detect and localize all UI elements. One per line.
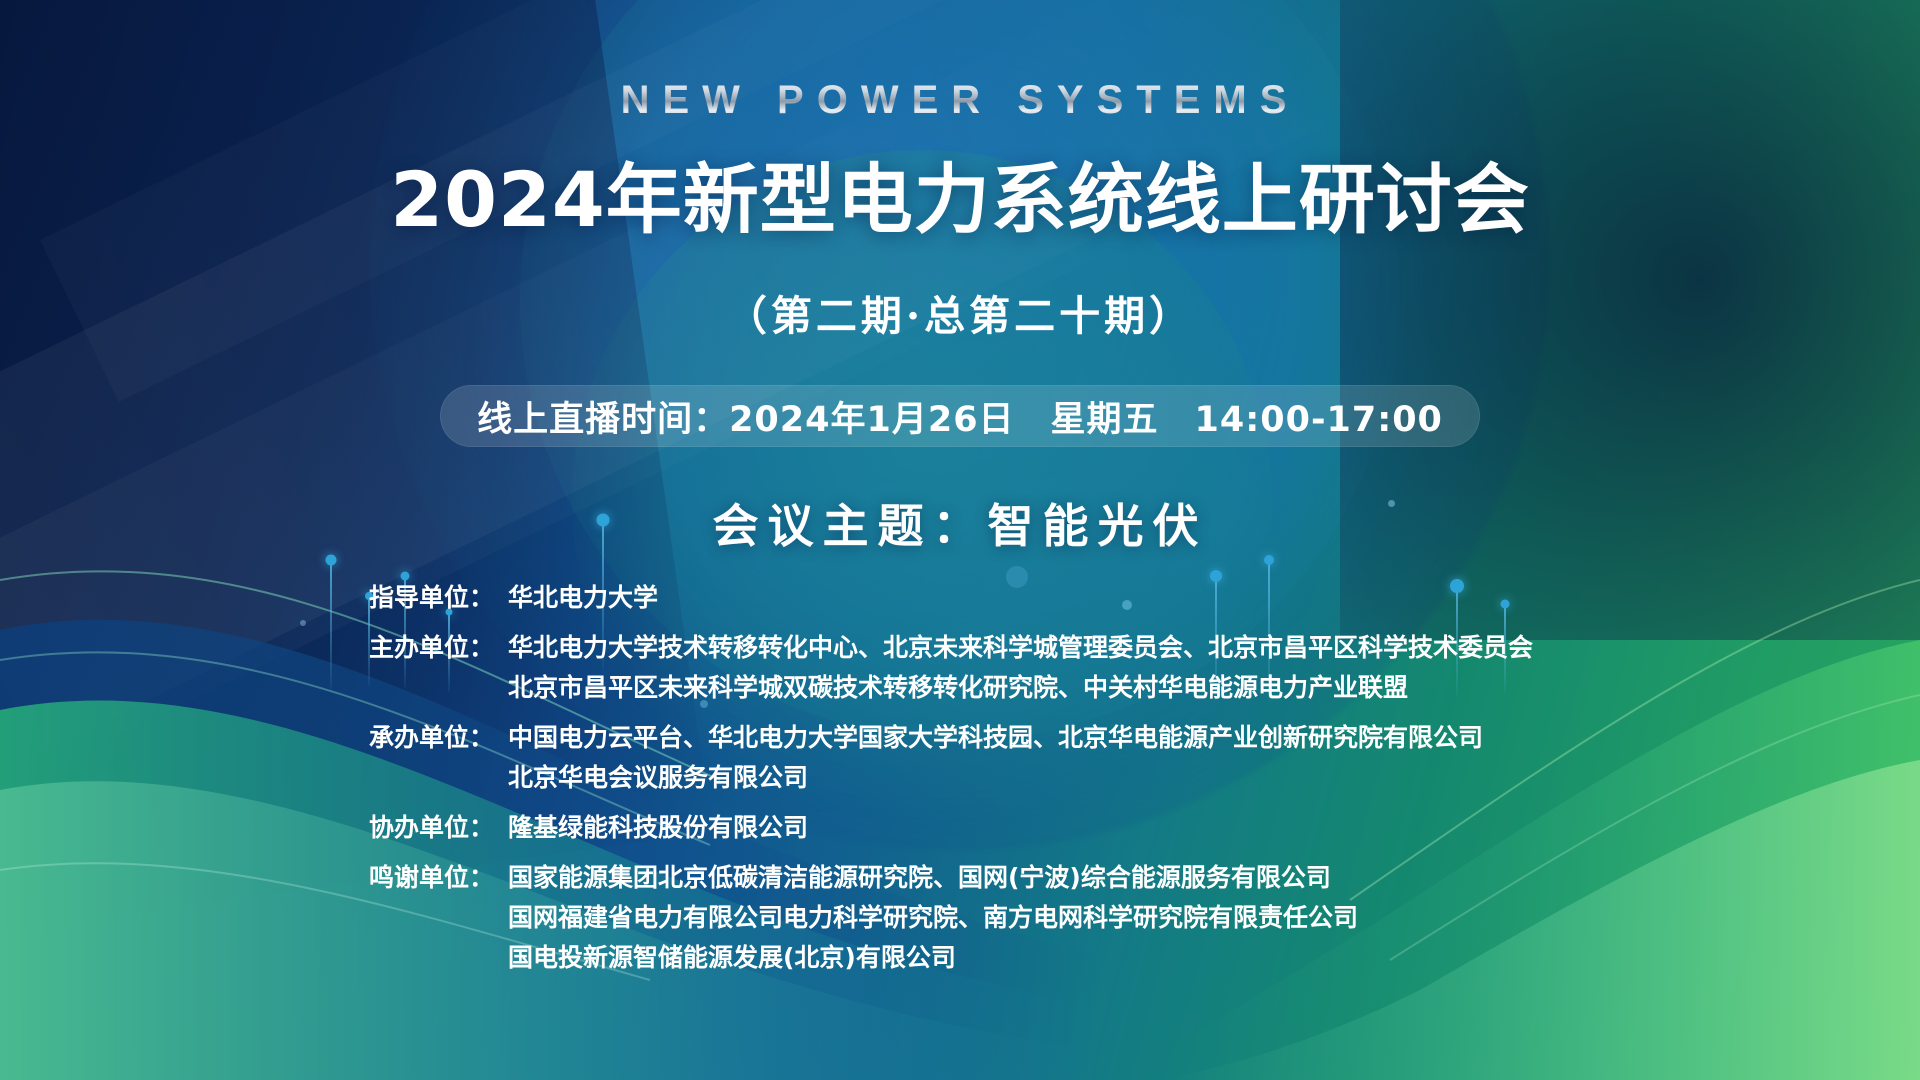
livestream-time-banner: 线上直播时间：2024年1月26日 星期五 14:00-17:00 [440,385,1480,447]
organization-value: 华北电力大学 [508,578,658,618]
organization-values: 国家能源集团北京低碳清洁能源研究院、国网(宁波)综合能源服务有限公司 国网福建省… [494,858,1358,978]
organization-value: 中国电力云平台、华北电力大学国家大学科技园、北京华电能源产业创新研究院有限公司 [508,718,1483,758]
organization-value: 华北电力大学技术转移转化中心、北京未来科学城管理委员会、北京市昌平区科学技术委员… [508,628,1533,668]
livestream-time-text: 线上直播时间：2024年1月26日 星期五 14:00-17:00 [477,391,1443,442]
organization-row: 指导单位： 华北电力大学 [318,578,1638,618]
organization-value: 北京市昌平区未来科学城双碳技术转移转化研究院、中关村华电能源电力产业联盟 [508,668,1533,708]
organization-label: 承办单位： [318,718,494,758]
organization-value: 国电投新源智储能源发展(北京)有限公司 [508,938,1358,978]
organization-row: 鸣谢单位： 国家能源集团北京低碳清洁能源研究院、国网(宁波)综合能源服务有限公司… [318,858,1638,978]
organization-label: 主办单位： [318,628,494,668]
conference-theme: 会议主题：智能光伏 [0,490,1920,556]
poster-content: NEW POWER SYSTEMS 2024年新型电力系统线上研讨会 （第二期·… [0,0,1920,1080]
main-title: 2024年新型电力系统线上研讨会 [0,138,1920,248]
organization-values: 隆基绿能科技股份有限公司 [494,808,808,848]
subtitle-issue: （第二期·总第二十期） [0,282,1920,342]
english-title: NEW POWER SYSTEMS [0,78,1920,123]
organization-row: 承办单位： 中国电力云平台、华北电力大学国家大学科技园、北京华电能源产业创新研究… [318,718,1638,798]
organization-value: 国家能源集团北京低碳清洁能源研究院、国网(宁波)综合能源服务有限公司 [508,858,1358,898]
organization-values: 中国电力云平台、华北电力大学国家大学科技园、北京华电能源产业创新研究院有限公司 … [494,718,1483,798]
organization-value: 北京华电会议服务有限公司 [508,758,1483,798]
organization-row: 主办单位： 华北电力大学技术转移转化中心、北京未来科学城管理委员会、北京市昌平区… [318,628,1638,708]
organization-value: 国网福建省电力有限公司电力科学研究院、南方电网科学研究院有限责任公司 [508,898,1358,938]
organization-label: 鸣谢单位： [318,858,494,898]
organization-label: 协办单位： [318,808,494,848]
organization-values: 华北电力大学技术转移转化中心、北京未来科学城管理委员会、北京市昌平区科学技术委员… [494,628,1533,708]
organization-list: 指导单位： 华北电力大学 主办单位： 华北电力大学技术转移转化中心、北京未来科学… [318,578,1638,988]
organization-value: 隆基绿能科技股份有限公司 [508,808,808,848]
organization-row: 协办单位： 隆基绿能科技股份有限公司 [318,808,1638,848]
conference-poster: NEW POWER SYSTEMS 2024年新型电力系统线上研讨会 （第二期·… [0,0,1920,1080]
organization-values: 华北电力大学 [494,578,658,618]
organization-label: 指导单位： [318,578,494,618]
